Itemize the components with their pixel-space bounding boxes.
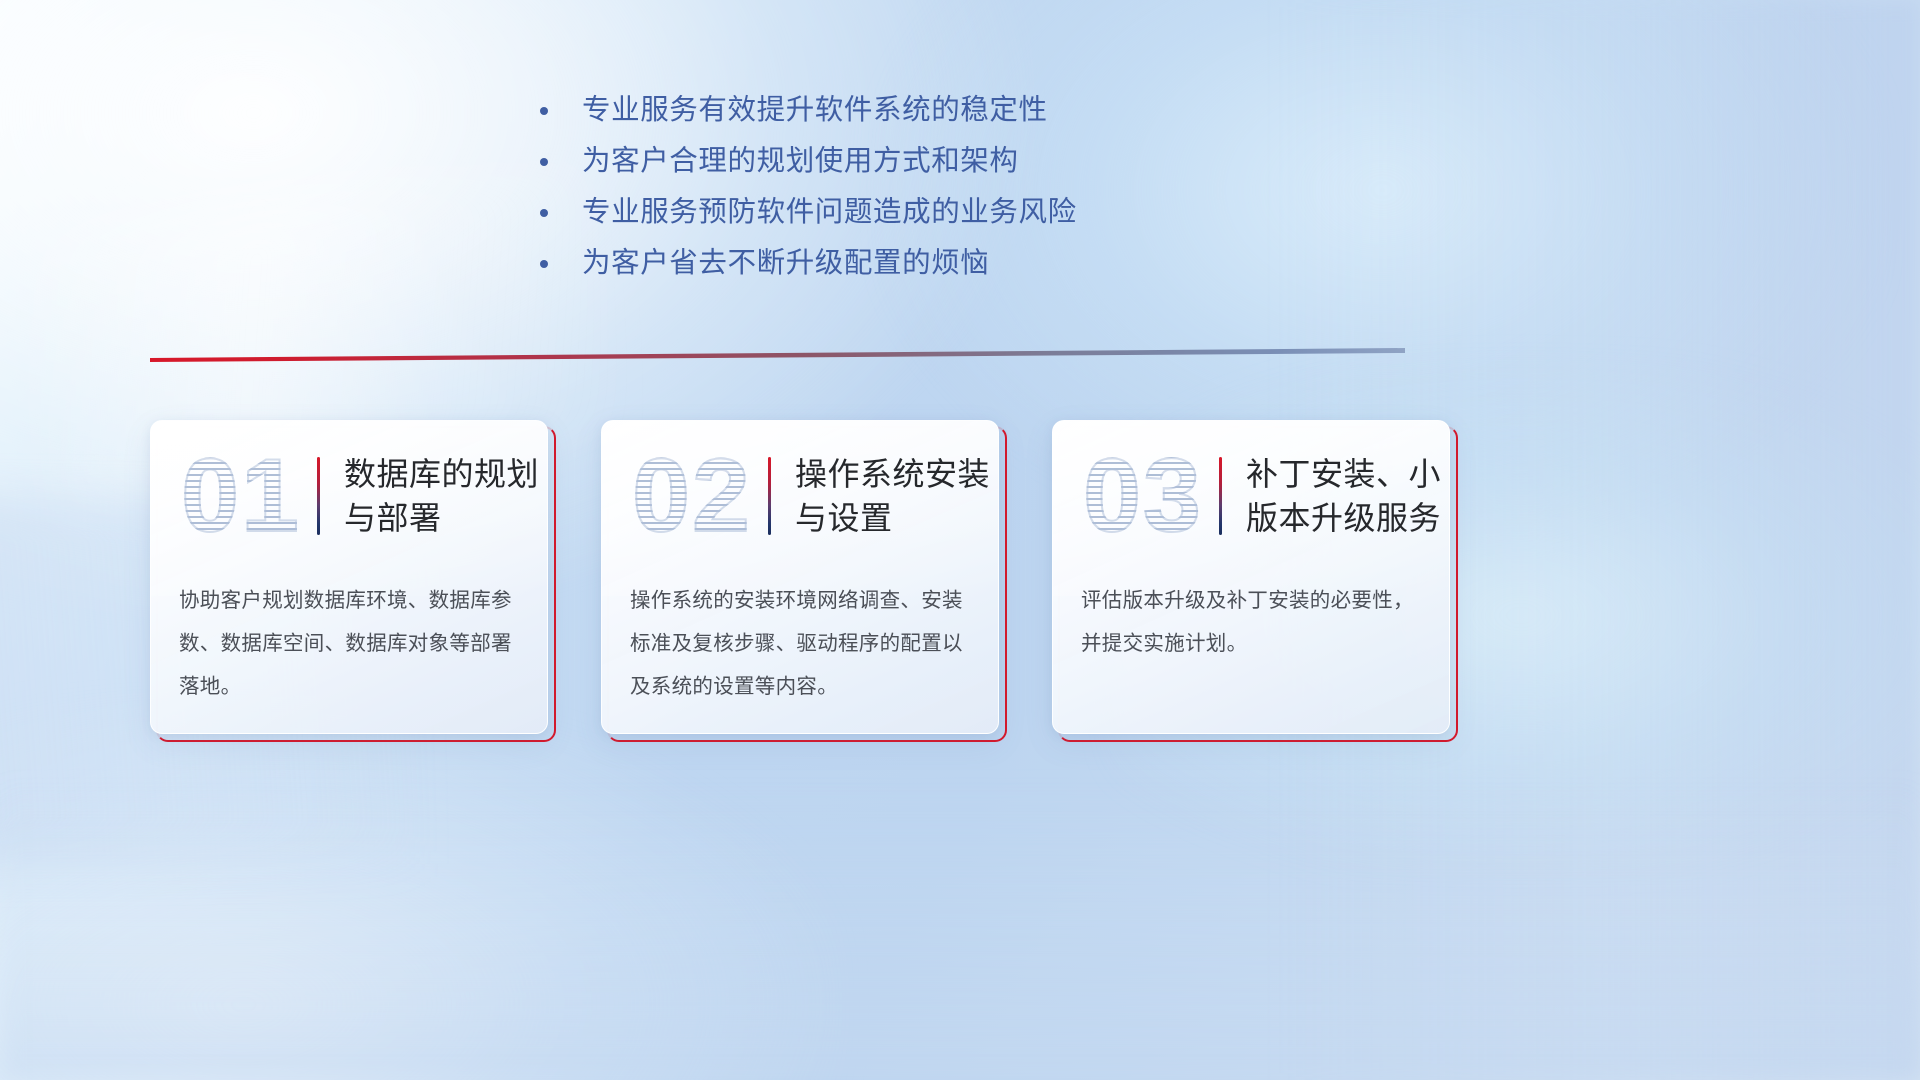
card-description: 协助客户规划数据库环境、数据库参数、数据库空间、数据库对象等部署落地。 — [151, 571, 547, 708]
card-header: 02 操作系统安装与设置 — [602, 421, 998, 571]
bullet-label: 为客户省去不断升级配置的烦恼 — [582, 241, 989, 286]
card-description: 评估版本升级及补丁安装的必要性，并提交实施计划。 — [1053, 571, 1449, 665]
card-header: 01 数据库的规划与部署 — [151, 421, 547, 571]
card-title: 数据库的规划与部署 — [344, 452, 547, 540]
card-title-divider-bar — [768, 457, 771, 535]
bullet-item: 专业服务预防软件问题造成的业务风险 — [540, 190, 1240, 241]
card-title: 操作系统安装与设置 — [795, 452, 998, 540]
benefits-bullet-list: 专业服务有效提升软件系统的稳定性 为客户合理的规划使用方式和架构 专业服务预防软… — [540, 88, 1240, 292]
bullet-dot-icon — [540, 260, 548, 268]
service-card-3[interactable]: 03 补丁安装、小版本升级服务 评估版本升级及补丁安装的必要性，并提交实施计划。 — [1052, 420, 1458, 742]
slide-root: 专业服务有效提升软件系统的稳定性 为客户合理的规划使用方式和架构 专业服务预防软… — [0, 0, 1920, 1080]
card-header: 03 补丁安装、小版本升级服务 — [1053, 421, 1449, 571]
bullet-label: 专业服务有效提升软件系统的稳定性 — [582, 88, 1048, 133]
bullet-item: 为客户合理的规划使用方式和架构 — [540, 139, 1240, 190]
card-title-divider-bar — [1219, 457, 1222, 535]
divider-line-icon — [150, 346, 1405, 366]
card-title-divider-bar — [317, 457, 320, 535]
bullet-dot-icon — [540, 209, 548, 217]
service-card-2[interactable]: 02 操作系统安装与设置 操作系统的安装环境网络调查、安装标准及复核步骤、驱动程… — [601, 420, 1007, 742]
service-card-list: 01 数据库的规划与部署 协助客户规划数据库环境、数据库参数、数据库空间、数据库… — [150, 420, 1460, 742]
bullet-label: 专业服务预防软件问题造成的业务风险 — [582, 190, 1077, 235]
card-surface: 02 操作系统安装与设置 操作系统的安装环境网络调查、安装标准及复核步骤、驱动程… — [601, 420, 999, 734]
card-surface: 03 补丁安装、小版本升级服务 评估版本升级及补丁安装的必要性，并提交实施计划。 — [1052, 420, 1450, 734]
card-surface: 01 数据库的规划与部署 协助客户规划数据库环境、数据库参数、数据库空间、数据库… — [150, 420, 548, 734]
card-number-watermark: 01 — [171, 444, 311, 548]
card-number-watermark: 02 — [622, 444, 762, 548]
card-description: 操作系统的安装环境网络调查、安装标准及复核步骤、驱动程序的配置以及系统的设置等内… — [602, 571, 998, 708]
background-bottom-shade — [0, 778, 1920, 1080]
bullet-dot-icon — [540, 158, 548, 166]
bullet-dot-icon — [540, 107, 548, 115]
bullet-label: 为客户合理的规划使用方式和架构 — [582, 139, 1019, 184]
service-card-1[interactable]: 01 数据库的规划与部署 协助客户规划数据库环境、数据库参数、数据库空间、数据库… — [150, 420, 556, 742]
bullet-item: 为客户省去不断升级配置的烦恼 — [540, 241, 1240, 292]
bullet-item: 专业服务有效提升软件系统的稳定性 — [540, 88, 1240, 139]
section-divider — [150, 346, 1405, 366]
card-number-watermark: 03 — [1073, 444, 1213, 548]
card-title: 补丁安装、小版本升级服务 — [1246, 452, 1449, 540]
